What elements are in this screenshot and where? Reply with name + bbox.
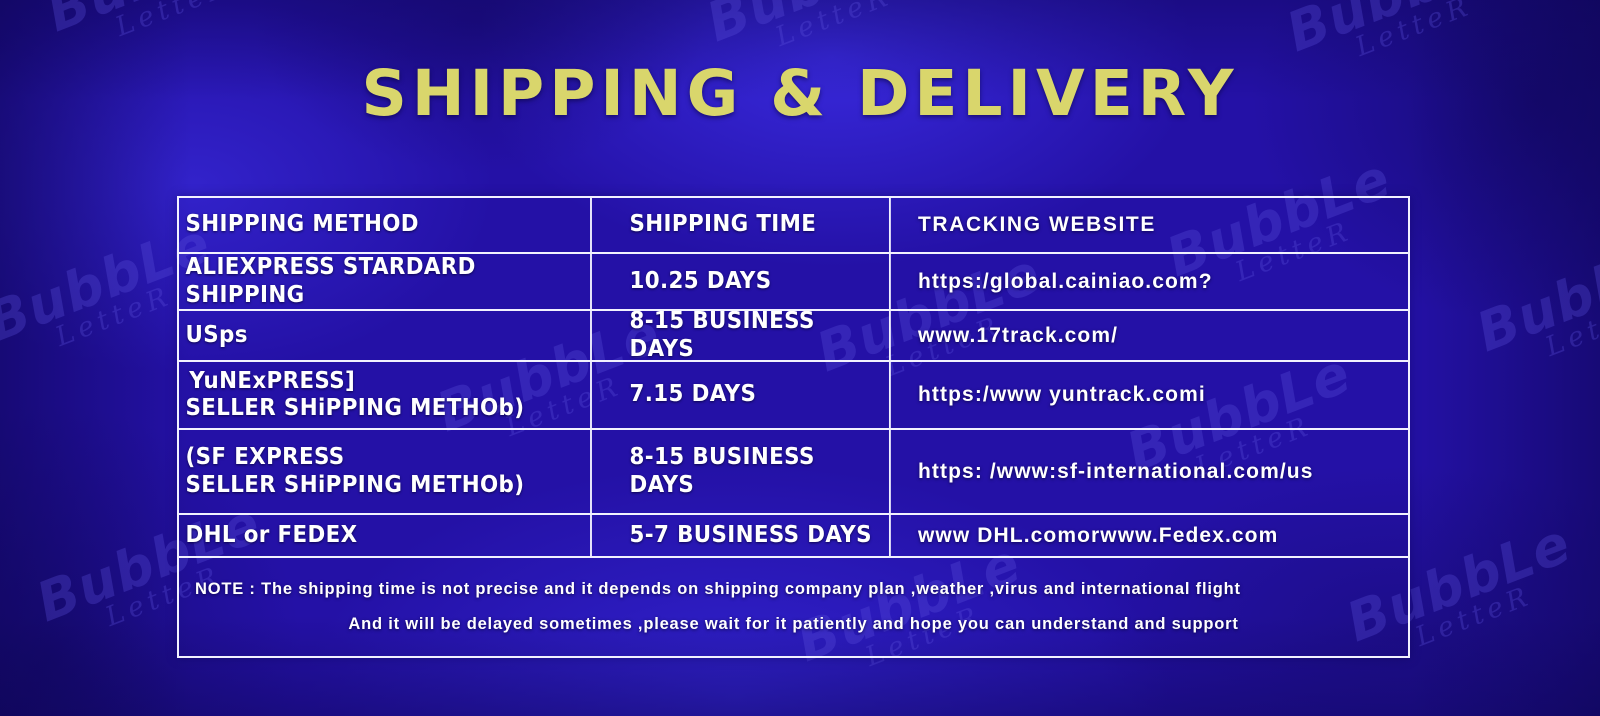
- table-row: YuNExPRESS] SELLER SHiPPING METHOb) 7.15…: [179, 362, 1408, 430]
- shipping-delivery-banner: BubbLe LetteR BubbLe LetteR BubbLe Lette…: [0, 0, 1600, 716]
- table-note-row: NOTE : The shipping time is not precise …: [179, 558, 1408, 656]
- table-row: ALIEXPRESS STARDARD SHIPPING 10.25 DAYS …: [179, 254, 1408, 311]
- cell-shipping-time: 5-7 BUSINESS DAYS: [623, 515, 891, 556]
- cell-shipping-time: 7.15 DAYS: [623, 362, 891, 428]
- cell-tracking-website[interactable]: https:/www yuntrack.comi: [911, 362, 1408, 428]
- note-line-1: NOTE : The shipping time is not precise …: [191, 580, 1396, 599]
- cell-shipping-method: (SF EXPRESS SELLER SHiPPING METHOb): [179, 430, 592, 513]
- cell-shipping-method: ALIEXPRESS STARDARD SHIPPING: [179, 254, 592, 309]
- note-line-2: And it will be delayed sometimes ,please…: [348, 615, 1238, 634]
- shipping-note: NOTE : The shipping time is not precise …: [179, 558, 1408, 656]
- watermark-sub-text: LetteR: [112, 0, 286, 41]
- cell-shipping-method: USps: [179, 311, 592, 360]
- cell-shipping-time: 8-15 BUSINESS DAYS: [623, 430, 891, 513]
- table-header-row: SHIPPING METHOD SHIPPING TIME TRACKING W…: [179, 198, 1408, 254]
- table-row: DHL or FEDEX 5-7 BUSINESS DAYS www DHL.c…: [179, 515, 1408, 558]
- watermark-logo: BubbLe LetteR: [40, 0, 286, 62]
- cell-shipping-method: DHL or FEDEX: [179, 515, 592, 556]
- watermark-logo: BubbLe LetteR: [1470, 226, 1600, 382]
- page-title: SHIPPING & DELIVERY: [0, 57, 1600, 130]
- cell-tracking-website[interactable]: www.17track.com/: [911, 311, 1408, 360]
- cell-tracking-website[interactable]: https: /www:sf-international.com/us: [911, 430, 1408, 513]
- table-header-shipping-method: SHIPPING METHOD: [179, 198, 592, 252]
- cell-tracking-website[interactable]: www DHL.comorwww.Fedex.com: [911, 515, 1408, 556]
- shipping-table: SHIPPING METHOD SHIPPING TIME TRACKING W…: [177, 196, 1410, 658]
- table-row: (SF EXPRESS SELLER SHiPPING METHOb) 8-15…: [179, 430, 1408, 515]
- cell-shipping-time: 8-15 BUSINESS DAYS: [623, 311, 891, 360]
- table-header-shipping-time: SHIPPING TIME: [623, 198, 891, 252]
- cell-shipping-method: YuNExPRESS] SELLER SHiPPING METHOb): [179, 362, 592, 428]
- table-row: USps 8-15 BUSINESS DAYS www.17track.com/: [179, 311, 1408, 362]
- cell-tracking-website[interactable]: https:/global.cainiao.com?: [911, 254, 1408, 309]
- cell-shipping-time: 10.25 DAYS: [623, 254, 891, 309]
- table-header-tracking-website: TRACKING WEBSITE: [911, 198, 1408, 252]
